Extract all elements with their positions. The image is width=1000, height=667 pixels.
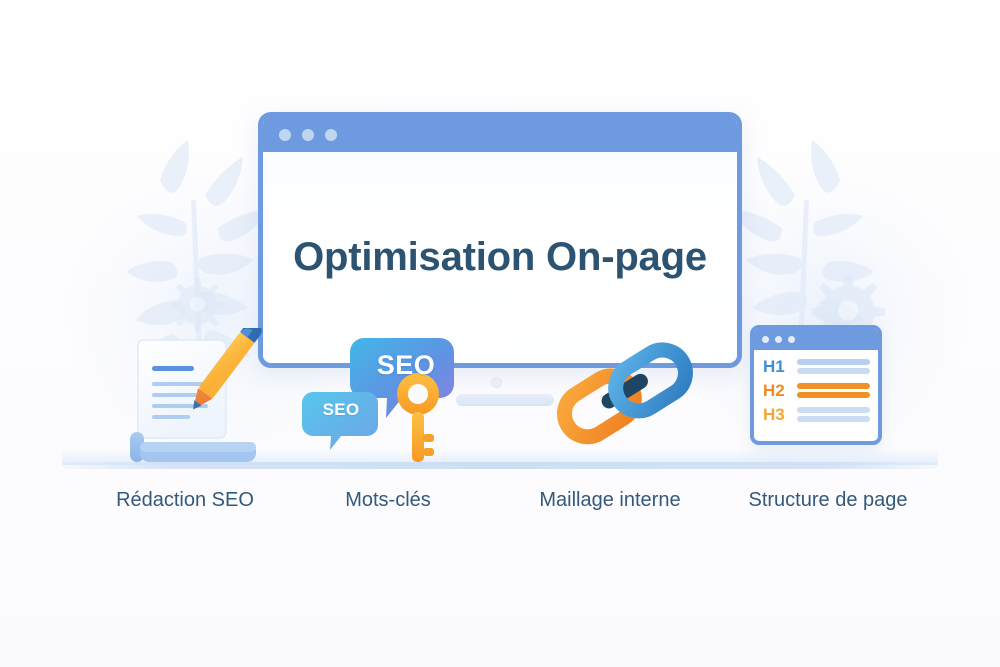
traffic-light-dot[interactable] [279, 129, 291, 141]
heading-row-h3: H3 [763, 406, 870, 423]
browser-titlebar [263, 117, 737, 152]
document-pencil-icon[interactable] [108, 328, 268, 463]
heading-row-h1: H1 [763, 358, 870, 375]
content-line [797, 407, 870, 413]
page-title: Optimisation On-page [293, 235, 707, 280]
seo-bubble-large-label: SEO [368, 350, 444, 380]
heading-tag-h2: H2 [763, 382, 791, 399]
caption-structure-de-page: Structure de page [680, 489, 976, 512]
heading-tag-h1: H1 [763, 358, 791, 375]
traffic-light-dot[interactable] [788, 336, 795, 343]
content-line [797, 368, 870, 374]
seo-bubble-small-label: SEO [316, 400, 366, 420]
decor-dot [491, 377, 502, 388]
key-icon [397, 373, 439, 462]
page-structure-icon[interactable]: H1 H2 H3 [750, 325, 882, 445]
content-line [797, 359, 870, 365]
ground-line [62, 462, 938, 469]
traffic-light-dot[interactable] [775, 336, 782, 343]
structure-titlebar [754, 329, 878, 350]
content-line [797, 416, 870, 422]
structure-content: H1 H2 H3 [754, 350, 878, 441]
heading-lines-h2 [797, 383, 870, 398]
traffic-light-dot[interactable] [302, 129, 314, 141]
chain-link-icon[interactable] [548, 340, 698, 448]
heading-row-h2: H2 [763, 382, 870, 399]
infographic-canvas: Optimisation On-page [0, 0, 1000, 667]
traffic-light-dot[interactable] [325, 129, 337, 141]
traffic-light-dot[interactable] [762, 336, 769, 343]
content-line [797, 383, 870, 389]
heading-lines-h3 [797, 407, 870, 422]
decor-bar [456, 394, 554, 406]
caption-row: Rédaction SEO Mots-clés Maillage interne… [0, 489, 1000, 521]
heading-tag-h3: H3 [763, 406, 791, 423]
heading-lines-h1 [797, 359, 870, 374]
content-line [797, 392, 870, 398]
